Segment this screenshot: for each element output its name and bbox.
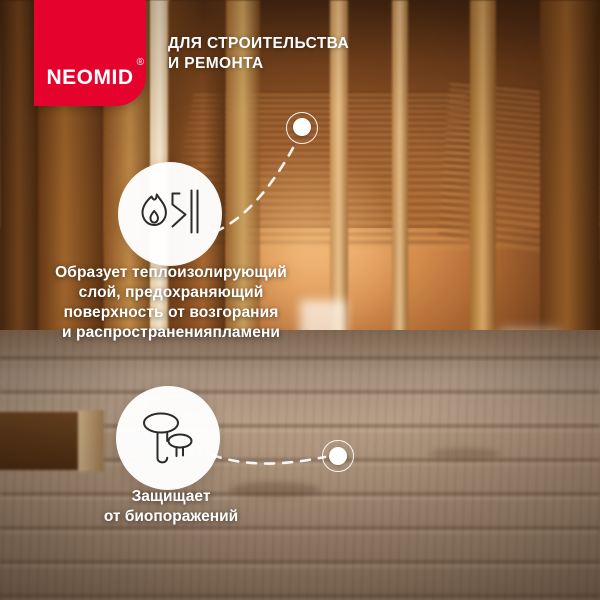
feature-icon-bio-protection[interactable]	[116, 386, 220, 490]
header-slogan: ДЛЯ СТРОИТЕЛЬСТВА И РЕМОНТА	[168, 34, 428, 75]
promo-banner: NEOMID® ДЛЯ СТРОИТЕЛЬСТВА И РЕМОНТА Об	[0, 0, 600, 600]
marker-dot-icon	[329, 447, 347, 465]
hotspot-marker-bottom[interactable]	[322, 440, 354, 472]
slogan-line-2: И РЕМОНТА	[168, 54, 428, 74]
caption-line: и распространенияпламени	[18, 323, 324, 343]
caption-line: Образует теплоизолирующий	[18, 263, 324, 283]
caption-fire-protection: Образует теплоизолирующий слой, предохра…	[18, 263, 324, 344]
slogan-line-1: ДЛЯ СТРОИТЕЛЬСТВА	[168, 34, 428, 54]
caption-bio-protection: Защищает от биопоражений	[58, 487, 284, 528]
mushroom-icon	[139, 408, 197, 468]
flame-barrier-icon	[137, 188, 203, 240]
caption-line: поверхность от возгорания	[18, 303, 324, 323]
caption-line: Защищает	[58, 487, 284, 507]
registered-trademark-icon: ®	[137, 57, 145, 68]
logo-wordmark: NEOMID®	[47, 66, 134, 90]
feature-icon-fire-protection[interactable]	[118, 162, 222, 266]
caption-line: слой, предохраняющий	[18, 283, 324, 303]
caption-line: от биопоражений	[58, 507, 284, 527]
neomid-logo[interactable]: NEOMID®	[34, 0, 146, 106]
hotspot-marker-top[interactable]	[286, 112, 318, 144]
marker-dot-icon	[293, 118, 311, 136]
